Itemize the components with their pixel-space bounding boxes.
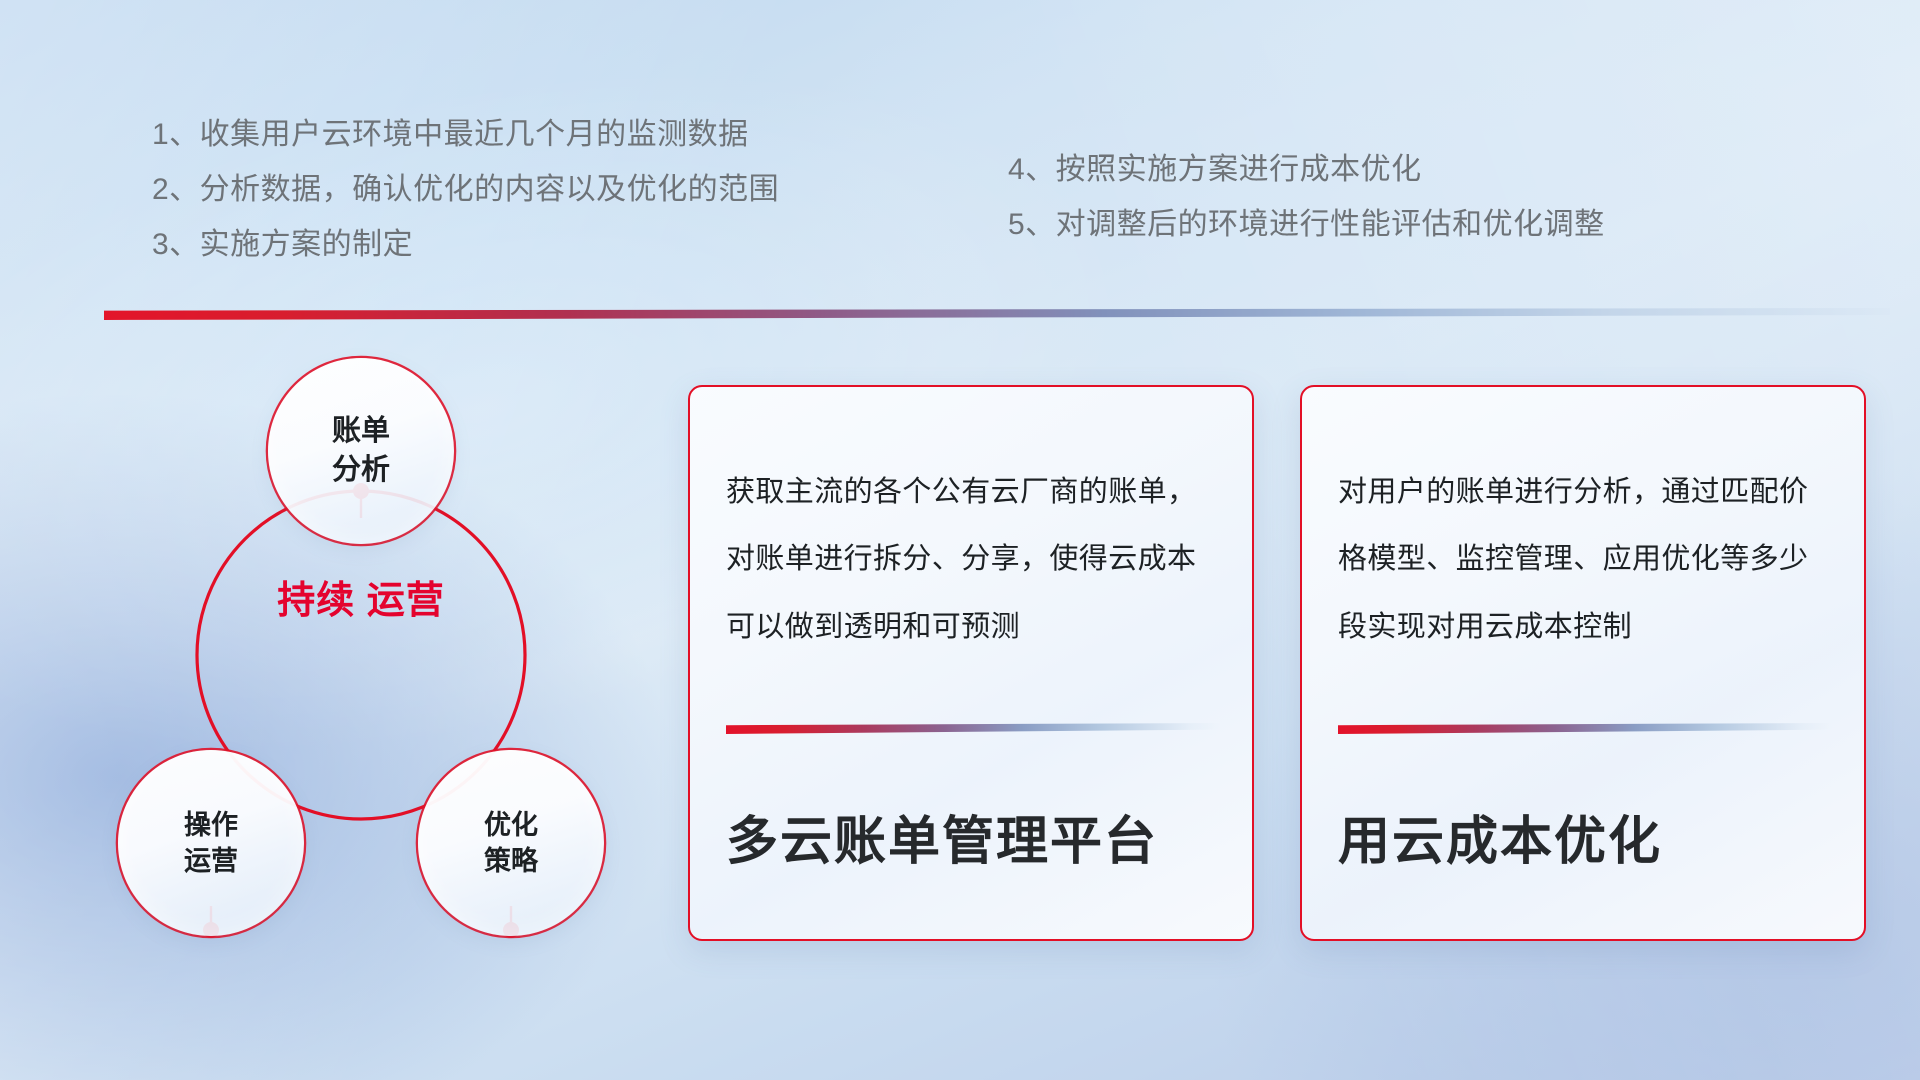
venn-center-label-line1: 持续 [277, 580, 355, 622]
venn-bubble-label-line1: 优化 [484, 807, 538, 843]
card-body-text: 对用户的账单进行分析，通过匹配价格模型、监控管理、应用优化等多少段实现对用云成本… [1338, 459, 1836, 661]
card-title: 用云成本优化 [1338, 799, 1662, 874]
step-item: 5、对调整后的环境进行性能评估和优化调整 [1008, 210, 1605, 240]
card-divider-bar [726, 723, 1220, 734]
venn-bubble-label-line1: 操作 [184, 807, 238, 843]
steps-list-left: 1、收集用户云环境中最近几个月的监测数据 2、分析数据，确认优化的内容以及优化的… [152, 120, 779, 260]
venn-bubble-label-line1: 账单 [332, 412, 390, 451]
step-item: 1、收集用户云环境中最近几个月的监测数据 [152, 120, 779, 150]
step-item: 4、按照实施方案进行成本优化 [1008, 155, 1605, 185]
venn-center-label-line2: 运营 [367, 580, 445, 622]
venn-bubble-label-line2: 策略 [484, 843, 538, 879]
card-title: 多云账单管理平台 [726, 799, 1158, 874]
venn-bubble-bill-analysis[interactable]: 账单 分析 [268, 358, 454, 544]
venn-bubble-optimization-strategy[interactable]: 优化 策略 [418, 750, 604, 936]
venn-bubble-label-line2: 分析 [332, 451, 390, 490]
venn-bubble-label-line2: 运营 [184, 843, 238, 879]
step-item: 3、实施方案的制定 [152, 230, 779, 260]
section-divider-bar [104, 308, 1890, 320]
steps-list-right: 4、按照实施方案进行成本优化 5、对调整后的环境进行性能评估和优化调整 [1008, 155, 1605, 240]
card-divider-bar [1338, 723, 1832, 734]
feature-card-multi-cloud-bill-platform[interactable]: 获取主流的各个公有云厂商的账单，对账单进行拆分、分享，使得云成本可以做到透明和可… [688, 385, 1254, 941]
card-body-text: 获取主流的各个公有云厂商的账单，对账单进行拆分、分享，使得云成本可以做到透明和可… [726, 459, 1224, 661]
venn-bubble-operations[interactable]: 操作 运营 [118, 750, 304, 936]
step-item: 2、分析数据，确认优化的内容以及优化的范围 [152, 175, 779, 205]
slide-canvas: 1、收集用户云环境中最近几个月的监测数据 2、分析数据，确认优化的内容以及优化的… [0, 0, 1920, 1080]
venn-center-label: 持续 运营 [276, 578, 446, 626]
feature-card-cloud-cost-optimization[interactable]: 对用户的账单进行分析，通过匹配价格模型、监控管理、应用优化等多少段实现对用云成本… [1300, 385, 1866, 941]
venn-diagram: 账单 分析 操作 运营 优化 策略 持续 运营 [96, 350, 656, 950]
